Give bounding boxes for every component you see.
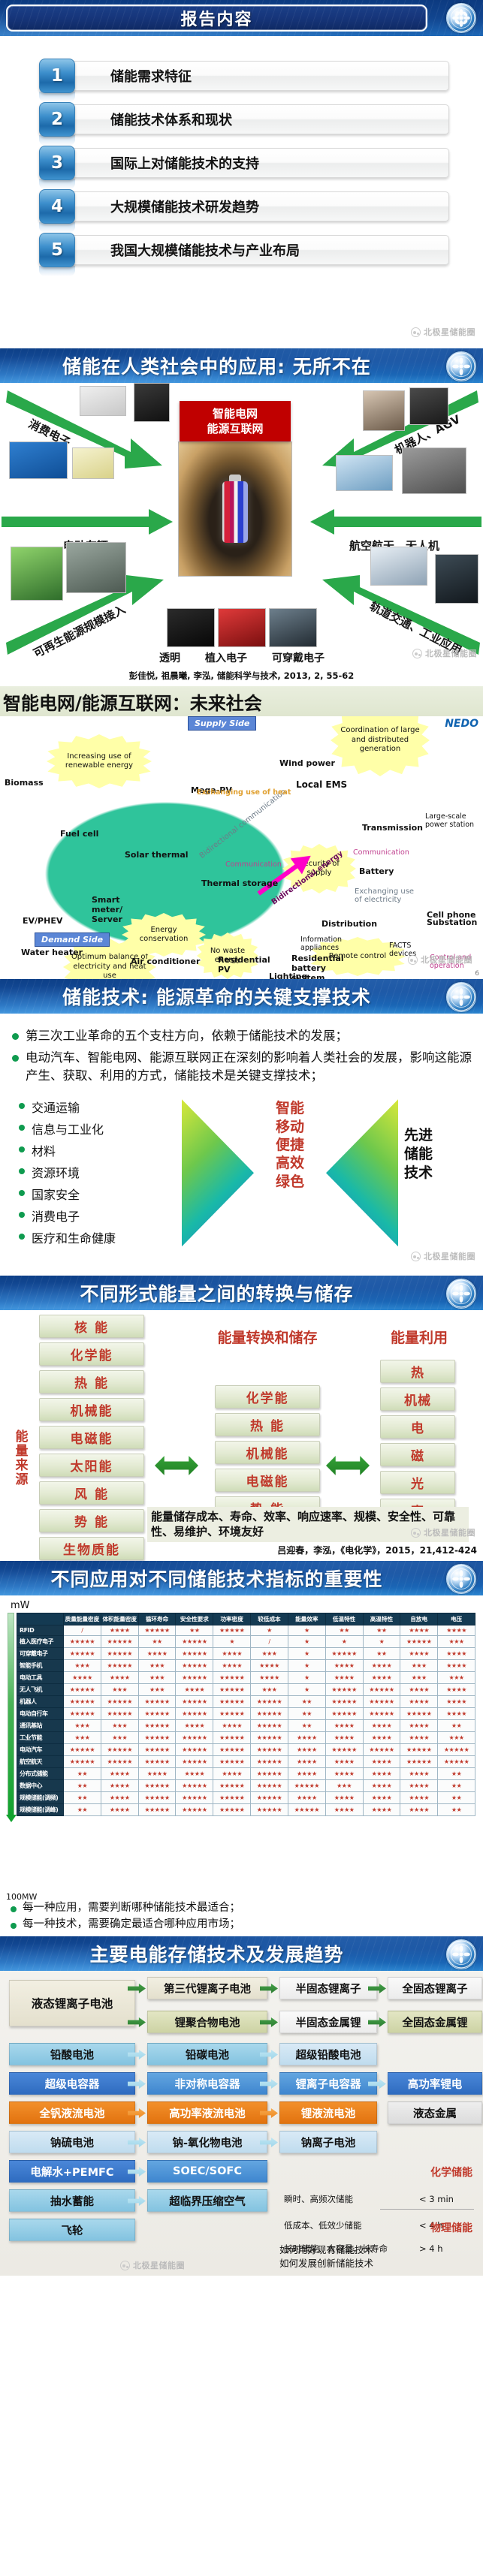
agenda-bar: 国际上对储能技术的支持 <box>68 148 449 178</box>
cell: ★★★★★ <box>213 1708 251 1720</box>
cell: ★★★★★ <box>438 1756 475 1768</box>
cell: ★★★ <box>138 1684 176 1696</box>
cas-logo-icon <box>446 1564 476 1594</box>
column-header: 安全性要求 <box>176 1613 213 1625</box>
cell: ★ <box>288 1660 325 1672</box>
row-header: 规模储能(调峰) <box>17 1804 64 1816</box>
tech-node[interactable]: SOEC/SOFC <box>147 2160 267 2183</box>
cell: ★★★★★ <box>288 1804 325 1816</box>
agenda-bar: 我国大规模储能技术与产业布局 <box>68 235 449 265</box>
watermark: 北极星储能圈 <box>411 326 475 338</box>
cell: ★★★★ <box>288 1732 325 1744</box>
cell: ★★ <box>325 1625 363 1636</box>
diagram-label-bidirectional-comm: Bidirectional communication <box>198 788 288 860</box>
diagram-label-biomass: Biomass <box>5 778 44 788</box>
bullet-item: 电动汽车、智能电网、能源互联网正在深刻的影响着人类社会的发展，影响这能源产生、获… <box>11 1049 472 1084</box>
row-header: 植入医疗电子 <box>17 1636 64 1648</box>
diagram-label-residential-pv: Residential PV <box>218 955 255 975</box>
table-row: 通讯基站 ★★★ ★★★ ★★★★★ ★★★★ ★★★★ ★★★★★ ★★ ★★… <box>17 1720 475 1732</box>
diagram-label-exchanging-heat: Exchanging use of heat <box>197 788 291 797</box>
cell: ★★★★★ <box>176 1732 213 1744</box>
roadmap-body: 液态锂离子电池 第三代锂离子电池 半固态锂离子 全固态锂离子 锂聚合物电池 半固… <box>0 1971 483 2276</box>
cell: ★★★★★ <box>251 1732 288 1744</box>
roadmap-row: 电解水+PEMFC SOEC/SOFC 化学储能 <box>5 2159 478 2184</box>
slide-applications: 储能在人类社会中的应用: 无所不在 消费电子 <box>0 348 483 686</box>
domain-item: 国家安全 <box>17 1185 178 1203</box>
energy-use-item: 热 <box>380 1360 455 1383</box>
tech-node[interactable]: 铅碳电池 <box>147 2043 267 2065</box>
cell: ★★★★★ <box>138 1708 176 1720</box>
cell: / <box>64 1625 101 1636</box>
bottom-photo-labels: 透明 植入电子 可穿戴电子 <box>159 650 325 665</box>
agenda-label: 储能技术体系和现状 <box>110 110 232 129</box>
photo-wearable-electronics <box>269 608 317 647</box>
note-item: 每一种技术，需要确定最适合哪种应用市场； <box>8 1918 477 1933</box>
tech-node[interactable]: 半固态金属锂 <box>279 2011 377 2033</box>
cell: ★★★★ <box>101 1768 138 1780</box>
table-row: 航空航天 ★★★★★ ★★★★★ ★★★★★ ★★★★★ ★★★★★ ★★★★★… <box>17 1756 475 1768</box>
question-line: 如何发展创新储能技术 <box>279 2255 373 2270</box>
cell: ★★★★ <box>325 1756 363 1768</box>
agenda-reflection <box>39 179 75 189</box>
column-header: 较低成本 <box>251 1613 288 1625</box>
cell: ★★★★ <box>363 1768 400 1780</box>
cell: ★★★★★ <box>213 1696 251 1708</box>
tech-node[interactable]: 高功率液流电池 <box>147 2101 267 2124</box>
nedo-logo: NEDO <box>445 718 478 730</box>
cell: ★★ <box>288 1708 325 1720</box>
cell: ★★★ <box>400 1660 438 1672</box>
page-title: 报告内容 <box>180 6 252 30</box>
roadmap-row: 锂聚合物电池 半固态金属锂 全固态金属锂 <box>5 2008 478 2038</box>
tag-supply-side: Supply Side <box>188 716 256 731</box>
energy-use-list: 热 机械 电 磁 光 声 <box>380 1360 455 1526</box>
cell: ★★★★★ <box>176 1744 213 1756</box>
diagram-label-cell-phone: Cell phone <box>427 910 475 920</box>
page-title: 储能在人类社会中的应用: 无所不在 <box>0 348 433 383</box>
cell: ★★★★★ <box>176 1636 213 1648</box>
cas-logo-icon <box>446 351 476 381</box>
citation: 彭佳悦, 祖晨曦, 李泓, 储能科学与技术, 2013, 2, 55-62 <box>0 670 483 682</box>
cell: ★★★★★ <box>213 1780 251 1792</box>
energy-use-item: 光 <box>380 1471 455 1494</box>
row-header: 电动汽车 <box>17 1744 64 1756</box>
cell: ★★ <box>438 1768 475 1780</box>
cell: ★★ <box>288 1720 325 1732</box>
cell: ★★★★★ <box>176 1708 213 1720</box>
arrow-aerospace-uav-icon <box>309 509 481 536</box>
photo-transparent-device <box>167 608 215 647</box>
cell: ★★★★ <box>288 1744 325 1756</box>
roadmap-row: 超级电容器 非对称电容器 锂离子电容器 高功率锂电 <box>5 2071 478 2096</box>
cell: ★★★ <box>101 1732 138 1744</box>
keyword: 储能 <box>404 1145 479 1164</box>
agenda-item[interactable]: 储能技术体系和现状 2 <box>39 102 449 138</box>
cell: ★★★★★ <box>176 1804 213 1816</box>
watermark: 北极星储能圈 <box>411 1526 475 1538</box>
slide1-title-plate: 报告内容 <box>6 5 427 32</box>
agenda-number: 3 <box>39 146 75 180</box>
cell: ★★★ <box>400 1672 438 1684</box>
smart-grid-line2: 能源互联网 <box>207 422 263 436</box>
cell: ★★ <box>438 1792 475 1804</box>
cell: ★★★★★ <box>213 1792 251 1804</box>
agenda-reflection <box>39 266 75 276</box>
diagram-label-solar-thermal: Solar thermal <box>125 850 189 860</box>
energy-storage-item: 热 能 <box>215 1413 320 1436</box>
tech-node[interactable]: 液态金属 <box>388 2101 482 2124</box>
column-header: 高温特性 <box>363 1613 400 1625</box>
cell: ★★★★★ <box>400 1708 438 1720</box>
slide4-columns: 交通运输 信息与工业化 材料 资源环境 国家安全 消费电子 医疗和生命健康 智能… <box>11 1095 472 1256</box>
tech-node[interactable]: 全固态锂离子 <box>388 1977 482 1999</box>
right-keywords: 先进 储能 技术 <box>404 1126 479 1182</box>
cell: ★★★★★ <box>213 1732 251 1744</box>
triangle-right-icon <box>326 1099 398 1246</box>
tech-node[interactable]: 超级铅酸电池 <box>279 2043 377 2065</box>
middle-keywords: 智能 移动 便捷 高效 绿色 <box>258 1099 321 1191</box>
cell: ★★★★★ <box>176 1756 213 1768</box>
cell: ★★ <box>64 1768 101 1780</box>
domain-item: 消费电子 <box>17 1207 178 1225</box>
agenda-item[interactable]: 国际上对储能技术的支持 3 <box>39 146 449 182</box>
slide4-body: 第三次工业革命的五个支柱方向，依赖于储能技术的发展； 电动汽车、智能电网、能源互… <box>0 1014 483 1276</box>
keyword: 高效 <box>258 1154 321 1172</box>
cell: ★★★★★ <box>138 1696 176 1708</box>
column-header: 功率密度 <box>213 1613 251 1625</box>
cell: ★★★★ <box>288 1768 325 1780</box>
cell: ★★★★★ <box>363 1684 400 1696</box>
roadmap-row: 全钒液流电池 高功率液流电池 锂液流电池 液态金属 <box>5 2100 478 2126</box>
cell: ★★ <box>138 1636 176 1648</box>
diagram-label-water-heater: Water heater <box>21 948 83 957</box>
cell: ★★★★★ <box>64 1708 101 1720</box>
tech-node[interactable]: 电解水+PEMFC <box>9 2160 135 2183</box>
cell: ★★★★★ <box>251 1720 288 1732</box>
slide6-body: mW 质量能量密度 体积能量密度 循环寿命 安全性要求 功率密度 较低成本 <box>0 1595 483 1936</box>
triangle-left-icon <box>182 1099 254 1246</box>
tech-node[interactable]: 超级电容器 <box>9 2072 135 2095</box>
cas-logo-icon <box>446 1279 476 1309</box>
agenda-reflection <box>39 222 75 233</box>
cell: ★★★★ <box>400 1792 438 1804</box>
cell: ★★★★★ <box>400 1636 438 1648</box>
row-header: 通讯基站 <box>17 1720 64 1732</box>
cas-logo-icon <box>446 982 476 1012</box>
energy-source-item: 生物质能 <box>39 1537 144 1560</box>
application-domain-list: 交通运输 信息与工业化 材料 资源环境 国家安全 消费电子 医疗和生命健康 <box>17 1098 178 1250</box>
tech-node[interactable]: 锂液流电池 <box>279 2101 377 2124</box>
energy-source-item: 核 能 <box>39 1315 144 1338</box>
row-header: 机器人 <box>17 1696 64 1708</box>
cell: ★★★★★ <box>176 1696 213 1708</box>
energy-conversion-header: 能量转换和储存 <box>185 1327 350 1347</box>
page-title: 不同应用对不同储能技术指标的重要性 <box>0 1561 433 1595</box>
tech-node[interactable]: 高功率锂电 <box>388 2072 482 2095</box>
question-line: 如何用好现有储能技术 <box>279 2242 373 2256</box>
cell: ★★ <box>438 1780 475 1792</box>
domain-item: 材料 <box>17 1141 178 1159</box>
watermark-icon <box>120 2261 130 2270</box>
column-header: 能量效率 <box>288 1613 325 1625</box>
energy-storage-item: 机械能 <box>215 1441 320 1464</box>
cell: ★★★★ <box>176 1684 213 1696</box>
agenda-reflection <box>39 135 75 146</box>
cell: ★★★★ <box>400 1648 438 1660</box>
diagram-label-battery: Battery <box>359 866 394 876</box>
tech-node[interactable]: 全固态金属锂 <box>388 2011 482 2033</box>
cell: ★★★★ <box>400 1720 438 1732</box>
photo-agv <box>409 387 448 425</box>
agenda-item[interactable]: 大规模储能技术研发趋势 4 <box>39 189 449 225</box>
cell: ★★★★★ <box>251 1756 288 1768</box>
watermark-text: 北极星储能圈 <box>133 2259 185 2271</box>
column-header: 循环寿命 <box>138 1613 176 1625</box>
energy-storage-list: 化学能 热 能 机械能 电磁能 势 能 <box>215 1385 320 1524</box>
diagram-label-ev-phev: EV/PHEV <box>23 916 62 926</box>
slide6-notes: 每一种应用，需要判断哪种储能技术最适合； 每一种技术，需要确定最适合哪种应用市场… <box>8 1901 477 1935</box>
column-header: 质量能量密度 <box>64 1613 101 1625</box>
agenda-item[interactable]: 我国大规模储能技术与产业布局 5 <box>39 233 449 269</box>
row-header: 航空航天 <box>17 1756 64 1768</box>
cell: ★★★★★ <box>101 1660 138 1672</box>
flow-arrow-icon <box>128 2017 146 2027</box>
cell: ★★★★ <box>363 1732 400 1744</box>
cell: ★★★★ <box>438 1684 475 1696</box>
cell: ★★★★★ <box>101 1636 138 1648</box>
cell: ★★★★★ <box>176 1648 213 1660</box>
slide1-banner: 报告内容 <box>0 0 483 36</box>
energy-source-item: 机械能 <box>39 1398 144 1421</box>
watermark: 北极星储能圈 <box>412 647 477 659</box>
tech-node[interactable]: 第三代锂离子电池 <box>147 1977 267 1999</box>
table-row: 电动汽车 ★★★★★ ★★★★★ ★★★★★ ★★★★★ ★★★★★ ★★★★★… <box>17 1744 475 1756</box>
cell: ★★★★ <box>213 1660 251 1672</box>
cell: ★★★★ <box>101 1792 138 1804</box>
slide7-banner: 主要电能存储技术及发展趋势 <box>0 1936 483 1971</box>
domain-item: 医疗和生命健康 <box>17 1228 178 1246</box>
table-row: 数据中心 ★★ ★★★★ ★★★★★ ★★★★★ ★★★★★ ★★★★★ ★★★… <box>17 1780 475 1792</box>
diagram-label-communication: Communication <box>225 860 282 869</box>
energy-use-item: 磁 <box>380 1443 455 1466</box>
slide6-banner: 不同应用对不同储能技术指标的重要性 <box>0 1561 483 1595</box>
roadmap-row: 抽水蓄能 超临界压缩空气 瞬时、高频次储能 < 3 min <box>5 2188 478 2213</box>
cell: ★★★★★ <box>213 1744 251 1756</box>
agenda-bar: 储能技术体系和现状 <box>68 104 449 134</box>
diagram-label-large-power-station: Large-scale power station <box>425 812 479 829</box>
conversion-arrow-right-icon <box>326 1453 370 1478</box>
row-header: 分布式储能 <box>17 1768 64 1780</box>
cell: ★★★★★ <box>400 1744 438 1756</box>
cell: ★★ <box>438 1804 475 1816</box>
cell: ★★ <box>363 1648 400 1660</box>
table-row: 智能手机 ★★★ ★★★★★ ★★★ ★★★★★ ★★★★ ★★★★ ★ ★★★… <box>17 1660 475 1672</box>
cell: ★★★★★ <box>438 1744 475 1756</box>
agenda-label: 我国大规模储能技术与产业布局 <box>110 240 300 260</box>
cell: ★★★★ <box>288 1756 325 1768</box>
cell: ★★★★★ <box>138 1792 176 1804</box>
table-row: 植入医疗电子 ★★★★★ ★★★★★ ★★ ★★★★★ ★ / ★ ★ ★ ★★… <box>17 1636 475 1648</box>
cell: ★★★★ <box>101 1672 138 1684</box>
cell: ★★★★★ <box>138 1720 176 1732</box>
column-header: 体积能量密度 <box>101 1613 138 1625</box>
table-row: 规模储能(调峰) ★★ ★★★★ ★★★★★ ★★★★★ ★★★★★ ★★★★★… <box>17 1804 475 1816</box>
cell: ★ <box>251 1625 288 1636</box>
cell: ★★★★★ <box>176 1672 213 1684</box>
diagram-label-smart-meter: Smart meter/ Server <box>92 895 146 924</box>
presentation-deck: 报告内容 <box>0 0 483 2276</box>
cell: ★ <box>288 1672 325 1684</box>
agenda-item[interactable]: 储能需求特征 1 <box>39 59 449 95</box>
agenda-number: 4 <box>39 189 75 224</box>
cell: ★★★ <box>251 1684 288 1696</box>
citation: 吕迎春，李泓，《电化学》，2015，21,412-424 <box>277 1544 477 1556</box>
cell: ★★★★★ <box>325 1684 363 1696</box>
table-row: 电动工具 ★★★★ ★★★★ ★★★ ★★★★★ ★★★★★ ★★★★ ★ ★★… <box>17 1672 475 1684</box>
bottom-label: 可穿戴电子 <box>272 650 325 665</box>
page-title: 智能电网/能源互联网：未来社会 <box>0 688 262 715</box>
cell: ★★★ <box>438 1636 475 1648</box>
tech-node[interactable]: 抽水蓄能 <box>9 2189 135 2212</box>
cell: ★★★★ <box>251 1672 288 1684</box>
tech-node[interactable]: 钠硫电池 <box>9 2131 135 2153</box>
cell: ★★★★ <box>400 1804 438 1816</box>
smart-grid-callout: 智能电网 能源互联网 <box>180 401 291 441</box>
diagram-label-local-ems: Local EMS <box>296 779 347 790</box>
energy-storage-item: 电磁能 <box>215 1469 320 1492</box>
table-row: RFID / ★★★★ ★★★★★ ★★ ★★★★★ ★ ★ ★★ ★★ ★★★… <box>17 1625 475 1636</box>
cell: ★★★★ <box>325 1672 363 1684</box>
watermark-icon <box>411 1252 421 1261</box>
cell: ★ <box>363 1636 400 1648</box>
tech-node[interactable]: 全钒液流电池 <box>9 2101 135 2124</box>
energy-source-item: 化学能 <box>39 1342 144 1366</box>
cell: ★★★★★ <box>325 1696 363 1708</box>
diagram-label-fuel-cell: Fuel cell <box>60 829 98 839</box>
column-header: 自放电 <box>400 1613 438 1625</box>
cell: ★★★★★ <box>251 1768 288 1780</box>
keyword: 智能 <box>258 1099 321 1117</box>
agenda-list: 储能需求特征 1 储能技术体系和现状 2 国际上对储能技术的支持 3 <box>0 36 483 269</box>
cell: ★ <box>288 1684 325 1696</box>
spec-value: < 3 min <box>419 2191 454 2207</box>
page-number: 6 <box>475 970 479 978</box>
cell: ★ <box>288 1636 325 1648</box>
cell: ★★★★ <box>64 1672 101 1684</box>
note-item: 每一种应用，需要判断哪种储能技术最适合； <box>8 1901 477 1916</box>
roadmap-row: 飞轮 低成本、低效少储能 < 4 h 物理储能 <box>5 2217 478 2243</box>
cell: ★★★★★ <box>400 1756 438 1768</box>
cell: ★★★★★ <box>64 1756 101 1768</box>
slide-agenda: 报告内容 <box>0 0 483 348</box>
cell: ★★★★ <box>325 1660 363 1672</box>
diagram-label-air-conditioner: Air conditioner <box>131 957 200 966</box>
row-header: 电动工具 <box>17 1672 64 1684</box>
photo-laptop <box>80 386 126 416</box>
domain-item: 资源环境 <box>17 1163 178 1181</box>
energy-source-item: 太阳能 <box>39 1454 144 1477</box>
keyword: 绿色 <box>258 1173 321 1191</box>
tech-node[interactable]: 钠-氧化物电池 <box>147 2131 267 2153</box>
page-title: 储能技术: 能源革命的关键支撑技术 <box>0 979 433 1014</box>
cell: ★★★★★ <box>101 1708 138 1720</box>
roadmap-row: 液态锂离子电池 第三代锂离子电池 半固态锂离子 全固态锂离子 <box>5 1975 478 2004</box>
domain-item: 信息与工业化 <box>17 1119 178 1137</box>
cell: ★★ <box>64 1780 101 1792</box>
agenda-label: 储能需求特征 <box>110 66 192 86</box>
tech-node[interactable]: 非对称电容器 <box>147 2072 267 2095</box>
table-corner <box>17 1613 64 1625</box>
cell: ★★★★ <box>438 1696 475 1708</box>
table-row: 分布式储能 ★★ ★★★★ ★★★★ ★★★★ ★★★★ ★★★★★ ★★★★ … <box>17 1768 475 1780</box>
scale-top-label: mW <box>11 1600 478 1611</box>
tech-node[interactable]: 飞轮 <box>9 2219 135 2241</box>
importance-matrix-table: 质量能量密度 体积能量密度 循环寿命 安全性要求 功率密度 较低成本 能量效率 … <box>17 1613 475 1816</box>
cell: ★★★★★ <box>138 1625 176 1636</box>
watermark-text: 北极星储能圈 <box>424 1250 475 1262</box>
arrow-ev-icon <box>2 509 174 536</box>
cell: ★★★★★ <box>251 1744 288 1756</box>
cell: ★★★★ <box>213 1648 251 1660</box>
cell: ★★★ <box>64 1660 101 1672</box>
agenda-bar: 大规模储能技术研发趋势 <box>68 191 449 221</box>
slide5-body: 能量来源 能量转换和储存 能量利用 核 能 化学能 热 能 机械能 电磁能 太阳… <box>0 1310 483 1561</box>
row-header: 无人飞机 <box>17 1684 64 1696</box>
cell: ★★★★ <box>325 1792 363 1804</box>
cell: ★★★ <box>138 1660 176 1672</box>
callout-renewable: Increasing use of renewable energy <box>47 734 152 788</box>
cell: ★★★★ <box>438 1625 475 1636</box>
slide-importance-matrix: 不同应用对不同储能技术指标的重要性 mW <box>0 1561 483 1936</box>
tech-node[interactable]: 钠离子电池 <box>279 2131 377 2153</box>
applications-canvas: 消费电子 机器人、AGV 电动车辆 航空航天、无人机 可再生能源规模接入 轨道交… <box>0 383 483 686</box>
row-header: 可穿戴电子 <box>17 1648 64 1660</box>
battery-cell-icon <box>222 481 248 543</box>
nedo-diagram: NEDO Coordination of large and distribut… <box>0 716 483 979</box>
tech-node[interactable]: 超临界压缩空气 <box>147 2189 267 2212</box>
cell: ★★★ <box>101 1684 138 1696</box>
table-row: 机器人 ★★★★★ ★★★★★ ★★★★★ ★★★★★ ★★★★★ ★★★★★ … <box>17 1696 475 1708</box>
cell: ★★★★ <box>363 1672 400 1684</box>
tech-node[interactable]: 铅酸电池 <box>9 2043 135 2065</box>
cell: ★★★ <box>251 1648 288 1660</box>
cell: ★★★★ <box>101 1780 138 1792</box>
cell: ★★★★ <box>400 1732 438 1744</box>
cas-logo-icon <box>446 3 476 33</box>
cell: ★★★★ <box>400 1768 438 1780</box>
watermark-icon <box>408 955 418 965</box>
diagram-label-wind-power: Wind power <box>279 758 335 768</box>
tech-node[interactable]: 半固态锂离子 <box>279 1977 377 1999</box>
slide-smart-grid-diagram: 智能电网/能源互联网：未来社会 NEDO Coordination of lar… <box>0 686 483 979</box>
cell: ★★★★★ <box>288 1780 325 1792</box>
cell: ★★★★★ <box>213 1672 251 1684</box>
cell: ★★★★ <box>176 1768 213 1780</box>
diagram-label-communication-2: Communication <box>353 848 409 857</box>
tech-node[interactable]: 锂聚合物电池 <box>147 2011 267 2033</box>
cell: ★★★★ <box>138 1768 176 1780</box>
cell: ★★★★★ <box>101 1756 138 1768</box>
table-row: 电动自行车 ★★★★★ ★★★★★ ★★★★★ ★★★★★ ★★★★★ ★★★★… <box>17 1708 475 1720</box>
agenda-label: 国际上对储能技术的支持 <box>110 153 259 173</box>
energy-use-header: 能量利用 <box>373 1327 466 1347</box>
diagram-label-distribution: Distribution <box>321 919 377 929</box>
conversion-arrow-left-icon <box>155 1453 198 1478</box>
slide-storage-roadmap: 主要电能存储技术及发展趋势 液态锂离子电池 第三代锂离子电池 <box>0 1936 483 2276</box>
watermark-text: 北极星储能圈 <box>424 1526 475 1538</box>
tech-node[interactable]: 锂离子电容器 <box>279 2072 377 2095</box>
cell: ★★★★★ <box>101 1648 138 1660</box>
